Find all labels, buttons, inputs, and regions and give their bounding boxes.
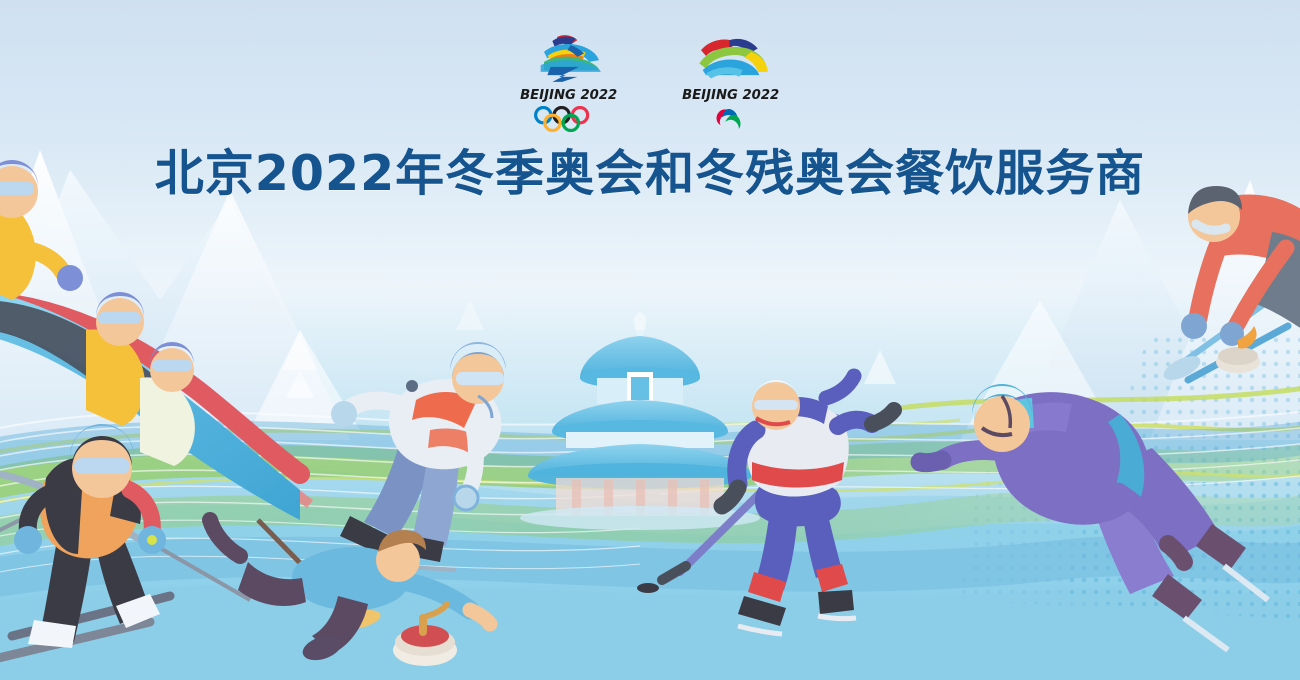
curling-stone-left	[393, 604, 457, 666]
olympic-rings-icon	[528, 106, 611, 132]
beijing-2022-banner: BEIJING 2022	[0, 0, 1300, 680]
paralympic-wordmark: BEIJING 2022	[674, 86, 787, 103]
olympic-wordmark: BEIJING 2022	[512, 86, 625, 103]
emblem-group: BEIJING 2022	[0, 30, 1300, 140]
agitos-icon	[690, 106, 773, 132]
paralympic-emblem: BEIJING 2022	[671, 30, 791, 132]
paralympic-emblem-mark	[681, 30, 781, 82]
athlete-speed-skater	[920, 384, 1268, 650]
olympic-emblem: BEIJING 2022	[509, 30, 629, 132]
svg-text:BEIJING 2022: BEIJING 2022	[520, 88, 617, 103]
athlete-curler-stone-thrower	[1160, 186, 1300, 385]
svg-text:BEIJING 2022: BEIJING 2022	[682, 88, 779, 103]
athlete-ice-hockey-player	[637, 376, 894, 634]
olympic-emblem-mark	[519, 30, 619, 82]
page-title: 北京2022年冬季奥会和冬残奥会餐饮服务商	[0, 144, 1300, 204]
bobsleigh-athlete-2	[86, 292, 145, 426]
athlete-curler-sweeper	[210, 520, 490, 666]
